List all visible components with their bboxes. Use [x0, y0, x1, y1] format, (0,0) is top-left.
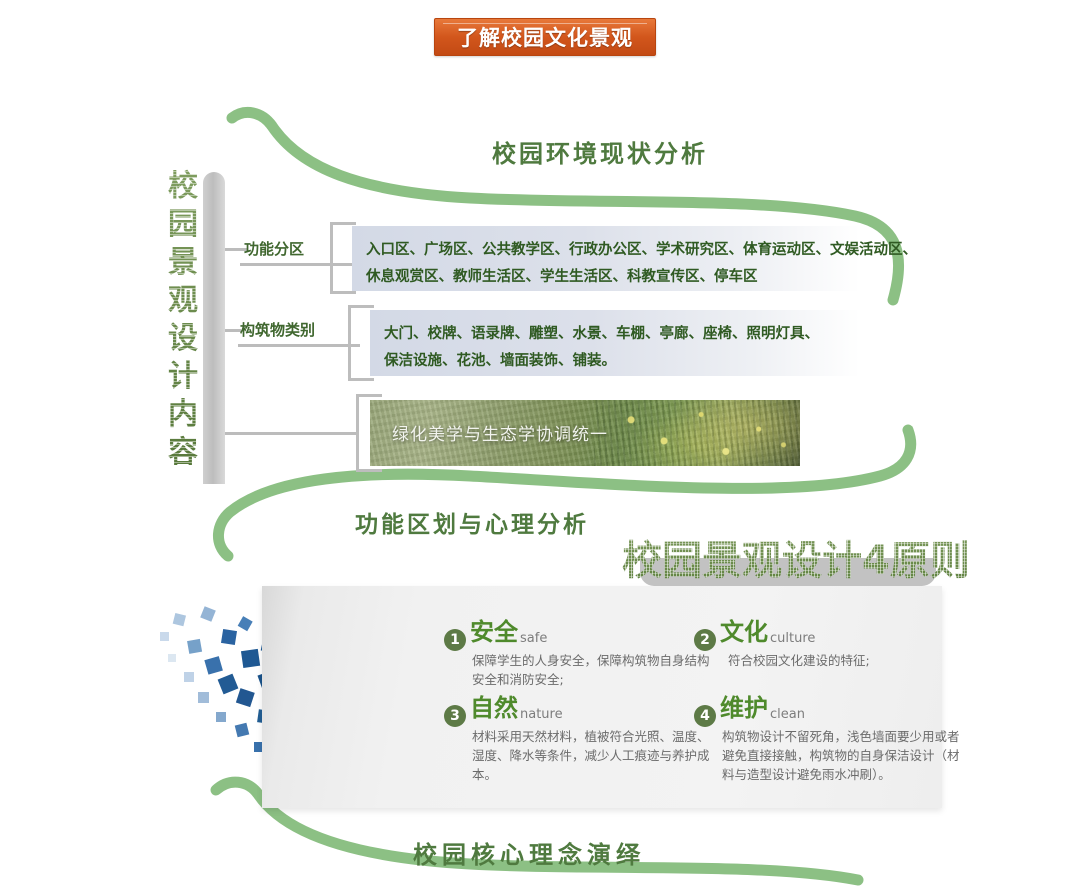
heading-four-principles: 校园景观设计4原则 [622, 528, 970, 586]
principle-item-4: 4 维护 clean 构筑物设计不留死角，浅色墙面要少用或者避免直接接触，构筑物… [694, 696, 966, 784]
row2-line-0: 大门、校牌、语录牌、雕塑、水景、车棚、亭廊、座椅、照明灯具、 [384, 321, 846, 348]
principle-2-description: 符合校园文化建设的特征; [728, 651, 974, 670]
principle-1-description: 保障学生的人身安全，保障构筑物自身结构安全和消防安全; [472, 651, 718, 689]
heading-core-concept: 校园核心理念演绎 [413, 835, 645, 870]
principle-3-number-badge: 3 [444, 705, 466, 727]
principle-2-head: 2 文化 culture [694, 620, 966, 647]
connector-line-row2 [225, 329, 241, 332]
principle-item-3: 3 自然 nature 材料采用天然材料，植被符合光照、温度、湿度、降水等条件，… [444, 696, 716, 784]
content-box-function-zoning: 入口区、广场区、公共教学区、行政办公区、学术研究区、体育运动区、文娱活动区、 休… [352, 226, 860, 291]
principle-3-description: 材料采用天然材料，植被符合光照、温度、湿度、降水等条件，减少人工痕迹与养护成本。 [472, 727, 718, 784]
vtitle-char-2: 景 [165, 244, 201, 282]
principle-item-1: 1 安全 safe 保障学生的人身安全，保障构筑物自身结构安全和消防安全; [444, 620, 716, 689]
principle-2-title-en: culture [770, 631, 815, 646]
vertical-section-title: 校 园 景 观 设 计 内 容 [165, 168, 201, 472]
vtitle-char-7: 容 [165, 434, 201, 472]
principle-4-description: 构筑物设计不留死角，浅色墙面要少用或者避免直接接触，构筑物的自身保洁设计（材料与… [722, 727, 968, 784]
principle-4-number-badge: 4 [694, 705, 716, 727]
row-label-structure-types: 构筑物类别 [240, 319, 315, 340]
principle-3-title-cn: 自然 [470, 696, 518, 720]
principle-3-title-en: nature [520, 707, 563, 722]
principle-4-head: 4 维护 clean [694, 696, 966, 723]
row2-label-underline [238, 344, 360, 347]
principle-4-title-en: clean [770, 707, 805, 722]
heading-environment-analysis: 校园环境现状分析 [492, 134, 708, 169]
principle-item-2: 2 文化 culture 符合校园文化建设的特征; [694, 620, 966, 670]
principle-1-title-cn: 安全 [470, 620, 518, 644]
page-title-banner: 了解校园文化景观 [434, 18, 656, 56]
vtitle-char-6: 内 [165, 396, 201, 434]
photo-banner-caption: 绿化美学与生态学协调统一 [392, 420, 608, 445]
vtitle-char-4: 设 [165, 320, 201, 358]
row2-line-1: 保洁设施、花池、墙面装饰、铺装。 [384, 348, 846, 375]
connector-line-row3 [225, 432, 358, 435]
row1-line-1: 休息观赏区、教师生活区、学生生活区、科教宣传区、停车区 [366, 264, 846, 291]
vtitle-char-1: 园 [165, 206, 201, 244]
content-box-structure-types: 大门、校牌、语录牌、雕塑、水景、车棚、亭廊、座椅、照明灯具、 保洁设施、花池、墙… [370, 310, 860, 376]
infographic-canvas: 了解校园文化景观 校园环境现状分析 功能区划与心理分析 校园景观设计4原则 校园… [0, 0, 1078, 887]
vertical-bracket-bar [203, 172, 225, 484]
row-label-function-zoning: 功能分区 [244, 238, 304, 259]
principle-1-number-badge: 1 [444, 629, 466, 651]
vtitle-char-0: 校 [165, 168, 201, 206]
vtitle-char-5: 计 [165, 358, 201, 396]
vtitle-char-3: 观 [165, 282, 201, 320]
row1-line-0: 入口区、广场区、公共教学区、行政办公区、学术研究区、体育运动区、文娱活动区、 [366, 237, 846, 264]
principle-2-number-badge: 2 [694, 629, 716, 651]
principle-1-title-en: safe [520, 631, 547, 646]
photo-banner-greening-aesthetics: 绿化美学与生态学协调统一 [370, 400, 800, 466]
principle-1-head: 1 安全 safe [444, 620, 716, 647]
page-title-text: 了解校园文化景观 [457, 22, 633, 52]
principle-2-title-cn: 文化 [720, 620, 768, 644]
principles-panel: 1 安全 safe 保障学生的人身安全，保障构筑物自身结构安全和消防安全; 2 … [262, 586, 942, 808]
principle-3-head: 3 自然 nature [444, 696, 716, 723]
heading-function-psychology: 功能区划与心理分析 [355, 505, 589, 539]
principle-4-title-cn: 维护 [720, 696, 768, 720]
